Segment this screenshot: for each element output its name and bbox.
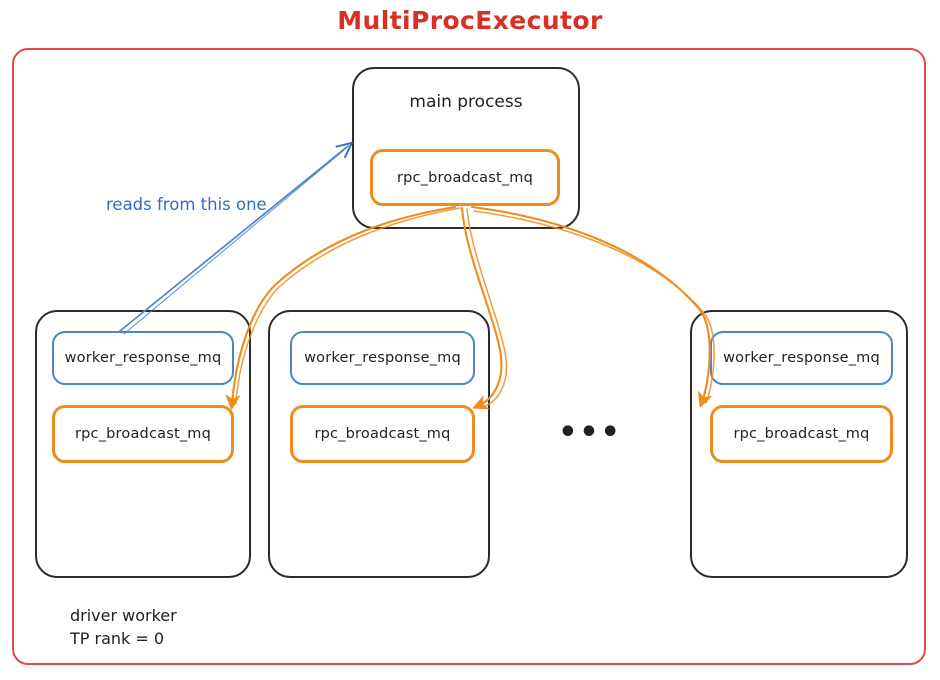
worker-7-rpc-broadcast-mq-label: rpc_broadcast_mq [713, 426, 890, 442]
worker-7-worker-response-mq-label: worker_response_mq [712, 350, 891, 366]
reads-from-this-one-annotation: reads from this one [106, 195, 267, 214]
main-process-rpc-broadcast-mq: rpc_broadcast_mq [370, 149, 560, 206]
worker-1-worker-response-mq: worker_response_mq [290, 331, 475, 385]
diagram-canvas: MultiProcExecutor main process rpc_broad… [0, 0, 940, 680]
worker-1-rpc-broadcast-mq: rpc_broadcast_mq [290, 405, 475, 463]
worker-1-rpc-broadcast-mq-label: rpc_broadcast_mq [293, 426, 472, 442]
page-title: MultiProcExecutor [0, 6, 940, 35]
worker-1-worker-response-mq-label: worker_response_mq [292, 350, 473, 366]
workers-ellipsis: ••• [545, 418, 635, 448]
worker-0-worker-response-mq-label: worker_response_mq [54, 350, 232, 366]
worker-0-rpc-broadcast-mq: rpc_broadcast_mq [52, 405, 234, 463]
driver-worker-note: driver worker TP rank = 0 [70, 604, 177, 650]
worker-7-worker-response-mq: worker_response_mq [710, 331, 893, 385]
main-process-title: main process [354, 91, 578, 114]
worker-0-rpc-broadcast-mq-label: rpc_broadcast_mq [55, 426, 231, 442]
worker-7-rpc-broadcast-mq: rpc_broadcast_mq [710, 405, 893, 463]
main-process-rpc-broadcast-mq-label: rpc_broadcast_mq [373, 170, 557, 186]
worker-0-worker-response-mq: worker_response_mq [52, 331, 234, 385]
